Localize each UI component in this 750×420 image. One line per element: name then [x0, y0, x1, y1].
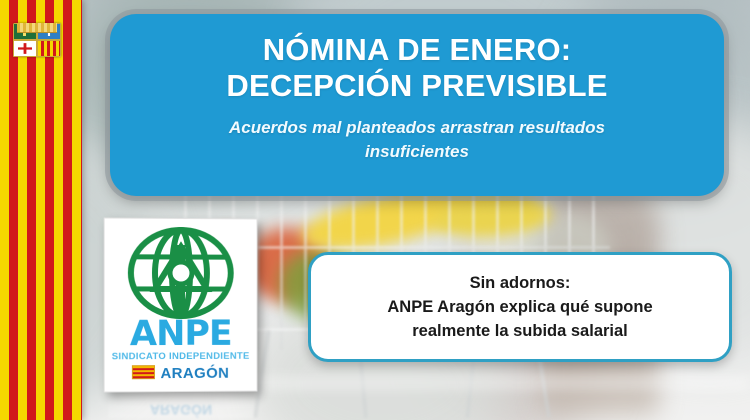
aragon-coat-of-arms-icon	[13, 23, 61, 57]
crown-icon	[17, 23, 57, 33]
logo-card-reflection: ARAGÓN	[108, 392, 254, 418]
callout-box: Sin adornos: ANPE Aragón explica qué sup…	[308, 252, 732, 362]
banner-subtitle-line-2: insuficientes	[162, 140, 672, 164]
anpe-wordmark: ANPE	[105, 317, 257, 352]
callout-line-3: realmente la subida salarial	[387, 319, 652, 343]
banner-title-line-1: NÓMINA DE ENERO:	[138, 32, 696, 68]
banner-subtitle-line-1: Acuerdos mal planteados arrastran result…	[162, 116, 672, 140]
anpe-region: ARAGÓN	[105, 365, 257, 383]
banner-title: NÓMINA DE ENERO: DECEPCIÓN PREVISIBLE	[110, 14, 724, 104]
anpe-globe-icon	[127, 227, 235, 319]
anpe-logo-card: ANPE SINDICATO INDEPENDIENTE ARAGÓN	[104, 217, 258, 392]
banner-title-line-2: DECEPCIÓN PREVISIBLE	[138, 68, 696, 104]
banner-subtitle: Acuerdos mal planteados arrastran result…	[110, 104, 724, 164]
mini-aragon-flag-icon	[132, 365, 155, 379]
callout-line-1: Sin adornos:	[387, 271, 652, 295]
headline-banner: NÓMINA DE ENERO: DECEPCIÓN PREVISIBLE Ac…	[110, 14, 724, 196]
poster-canvas: NÓMINA DE ENERO: DECEPCIÓN PREVISIBLE Ac…	[0, 0, 750, 420]
coat-quarter-bars	[37, 40, 61, 57]
coat-quarter-saint-george	[13, 40, 37, 57]
aragon-flag-strip	[0, 0, 82, 420]
callout-line-2: ANPE Aragón explica qué supone	[387, 295, 652, 319]
anpe-region-label: ARAGÓN	[160, 365, 229, 382]
anpe-tagline: SINDICATO INDEPENDIENTE	[105, 351, 257, 363]
callout-text: Sin adornos: ANPE Aragón explica qué sup…	[373, 271, 666, 343]
